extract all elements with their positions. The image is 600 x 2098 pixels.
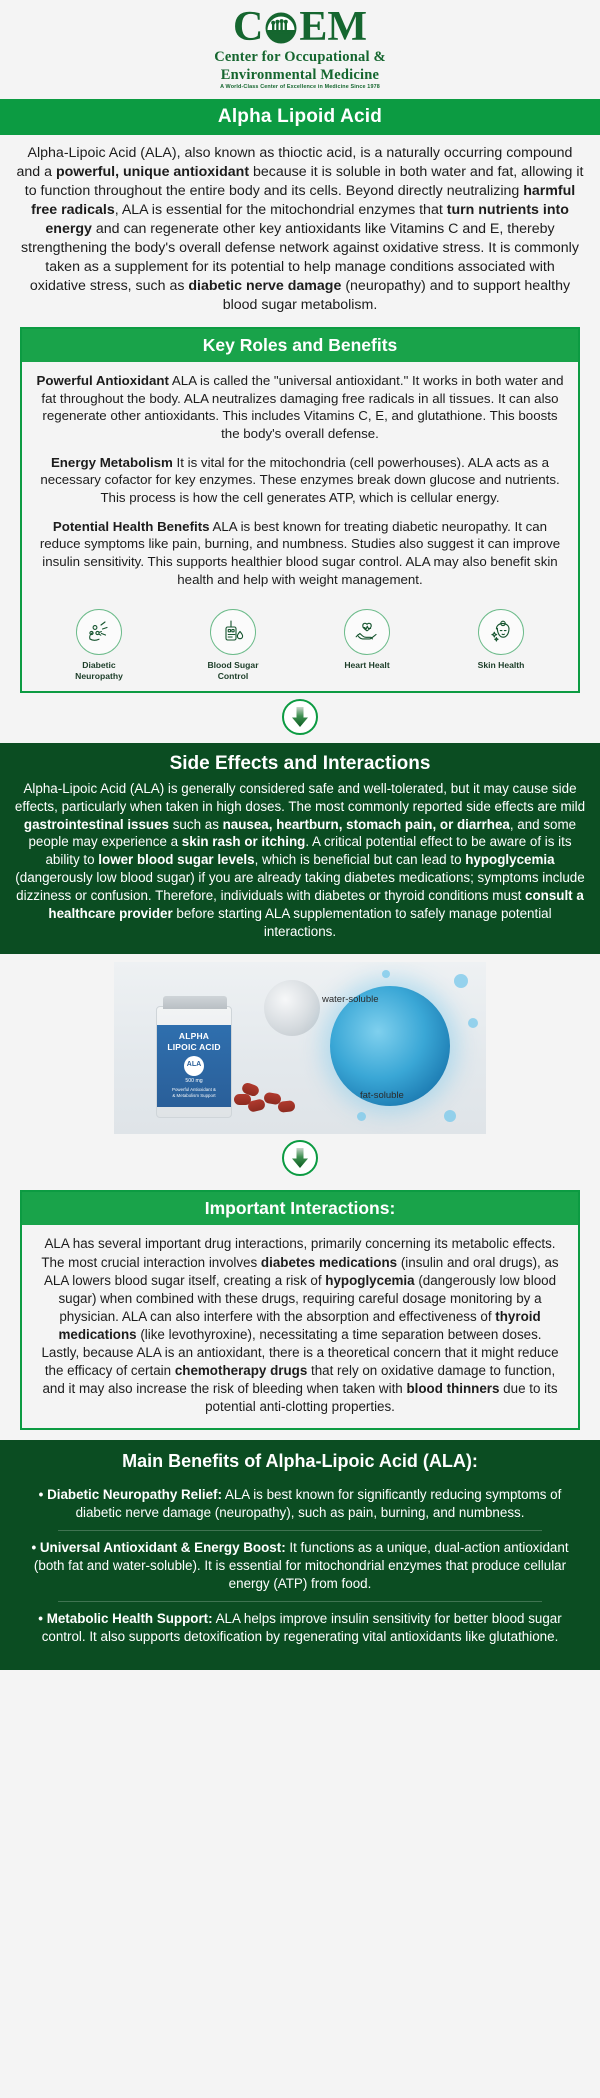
bottle-label-line1: ALPHA: [157, 1031, 231, 1042]
side-effects-section: Side Effects and Interactions Alpha-Lipo…: [0, 743, 600, 954]
pill: [277, 1101, 295, 1114]
product-image-block: ALPHA LIPOIC ACID ALA 500 mg Powerful An…: [0, 954, 600, 1134]
logo-wordmark: C E: [214, 8, 386, 48]
down-arrow-icon: [282, 699, 318, 735]
bottle-label: ALPHA LIPOIC ACID ALA 500 mg Powerful An…: [157, 1025, 231, 1107]
ii-bold-hypoglycemia: hypoglycemia: [325, 1273, 414, 1288]
down-arrow-icon: [282, 1140, 318, 1176]
side-effects-heading: Side Effects and Interactions: [0, 753, 600, 775]
side-effects-paragraph: Alpha-Lipoic Acid (ALA) is generally con…: [0, 780, 600, 940]
splash-drop: [444, 1110, 456, 1122]
key-role-label: Potential Health Benefits: [53, 519, 210, 534]
section-divider-arrow: [0, 693, 600, 743]
benefit-label: Metabolic Health Support:: [47, 1611, 213, 1626]
se-bold-rash: skin rash or itching: [182, 834, 306, 849]
intro-bold-antioxidant: powerful, unique antioxidant: [56, 164, 249, 180]
ala-product-photo: ALPHA LIPOIC ACID ALA 500 mg Powerful An…: [114, 962, 486, 1134]
intro-bold-nerve-damage: diabetic nerve damage: [188, 278, 341, 294]
key-role-item: Powerful Antioxidant ALA is called the "…: [36, 372, 564, 443]
splash-drop: [454, 974, 468, 988]
fat-soluble-label: fat-soluble: [360, 1090, 404, 1101]
ii-bold-blood-thinners: blood thinners: [406, 1381, 499, 1396]
se-text-c: such as: [169, 817, 223, 832]
ii-bold-diabetes-meds: diabetes medications: [261, 1255, 397, 1270]
benefit-icon-item: Blood SugarControl: [187, 609, 279, 681]
bottle-badge: ALA: [184, 1056, 204, 1076]
supplement-bottle: ALPHA LIPOIC ACID ALA 500 mg Powerful An…: [156, 1006, 232, 1118]
logo-name-line-1: Center for Occupational &: [214, 50, 386, 66]
diabetic-neuropathy-icon: [76, 609, 122, 655]
se-bold-lower-sugar: lower blood sugar levels: [98, 852, 254, 867]
se-bold-symptoms: nausea, heartburn, stomach pain, or diar…: [223, 817, 510, 832]
se-bold-hypoglycemia: hypoglycemia: [465, 852, 554, 867]
key-roles-heading: Key Roles and Benefits: [22, 329, 578, 362]
key-roles-body: Powerful Antioxidant ALA is called the "…: [22, 362, 578, 605]
splash-drop: [357, 1112, 366, 1121]
benefit-icon-item: Skin Health: [455, 609, 547, 670]
splash-drop: [382, 970, 390, 978]
logo-tagline: A World-Class Center of Excellence in Me…: [214, 85, 386, 90]
bottle-dose: 500 mg: [157, 1078, 231, 1085]
logo-name-line-2: Environmental Medicine: [214, 68, 386, 84]
benefit-icon-label: Blood SugarControl: [187, 660, 279, 681]
heart-health-icon: [344, 609, 390, 655]
benefit-icon-label: Skin Health: [455, 660, 547, 670]
important-interactions-card: Important Interactions: ALA has several …: [20, 1190, 580, 1430]
benefit-label: Diabetic Neuropathy Relief:: [47, 1487, 222, 1502]
splash-drop: [468, 1018, 478, 1028]
se-text-i: , which is beneficial but can lead to: [255, 852, 466, 867]
benefit-icon-row: DiabeticNeuropathy Blood SugarControl: [22, 605, 578, 691]
logo-header: C E: [0, 0, 600, 99]
intro-paragraph: Alpha-Lipoic Acid (ALA), also known as t…: [0, 135, 600, 325]
coem-logo: C E: [214, 8, 386, 90]
bottle-subtext: Powerful Antioxidant && Metabolism Suppo…: [157, 1087, 231, 1098]
key-role-label: Energy Metabolism: [51, 455, 173, 470]
benefit-icon-label: DiabeticNeuropathy: [53, 660, 145, 681]
page-title: Alpha Lipoid Acid: [0, 99, 600, 135]
se-text-k: (dangerously low blood sugar) if you are…: [15, 870, 584, 903]
main-benefit-item: • Metabolic Health Support: ALA helps im…: [0, 1602, 600, 1654]
bottle-label-line2: LIPOIC ACID: [157, 1042, 231, 1053]
key-role-item: Energy Metabolism It is vital for the mi…: [36, 454, 564, 507]
key-role-item: Potential Health Benefits ALA is best kn…: [36, 518, 564, 589]
key-roles-card: Key Roles and Benefits Powerful Antioxid…: [20, 327, 580, 693]
ii-bold-chemo-drugs: chemotherapy drugs: [175, 1363, 307, 1378]
section-divider-arrow: [0, 1134, 600, 1184]
se-text-m: before starting ALA supplementation to s…: [173, 906, 552, 939]
water-soluble-label: water-soluble: [322, 994, 379, 1005]
logo-tree-icon: [264, 11, 298, 45]
gray-orb-decoration: [264, 980, 320, 1036]
main-benefit-item: • Diabetic Neuropathy Relief: ALA is bes…: [0, 1478, 600, 1530]
se-text-a: Alpha-Lipoic Acid (ALA) is generally con…: [15, 781, 585, 814]
main-benefit-item: • Universal Antioxidant & Energy Boost: …: [0, 1531, 600, 1601]
important-interactions-body: ALA has several important drug interacti…: [22, 1225, 578, 1428]
logo-letter-c: C: [233, 8, 263, 48]
benefit-icon-item: Heart Healt: [321, 609, 413, 670]
main-benefits-heading: Main Benefits of Alpha-Lipoic Acid (ALA)…: [0, 1451, 600, 1478]
logo-letters-em: EM: [299, 8, 367, 48]
bottle-cap: [163, 996, 227, 1009]
benefit-bullet: •: [31, 1540, 39, 1555]
intro-text-e: , ALA is essential for the mitochondrial…: [115, 202, 447, 218]
se-bold-gi: gastrointestinal issues: [24, 817, 169, 832]
main-benefits-section: Main Benefits of Alpha-Lipoic Acid (ALA)…: [0, 1440, 600, 1670]
benefit-icon-item: DiabeticNeuropathy: [53, 609, 145, 681]
benefit-bullet: •: [39, 1487, 47, 1502]
benefit-bullet: •: [38, 1611, 46, 1626]
blood-sugar-control-icon: [210, 609, 256, 655]
benefit-label: Universal Antioxidant & Energy Boost:: [40, 1540, 286, 1555]
key-role-label: Powerful Antioxidant: [36, 373, 168, 388]
important-interactions-heading: Important Interactions:: [22, 1192, 578, 1225]
skin-health-icon: [478, 609, 524, 655]
pill-group: [234, 1080, 300, 1114]
pill: [247, 1099, 266, 1114]
benefit-icon-label: Heart Healt: [321, 660, 413, 670]
